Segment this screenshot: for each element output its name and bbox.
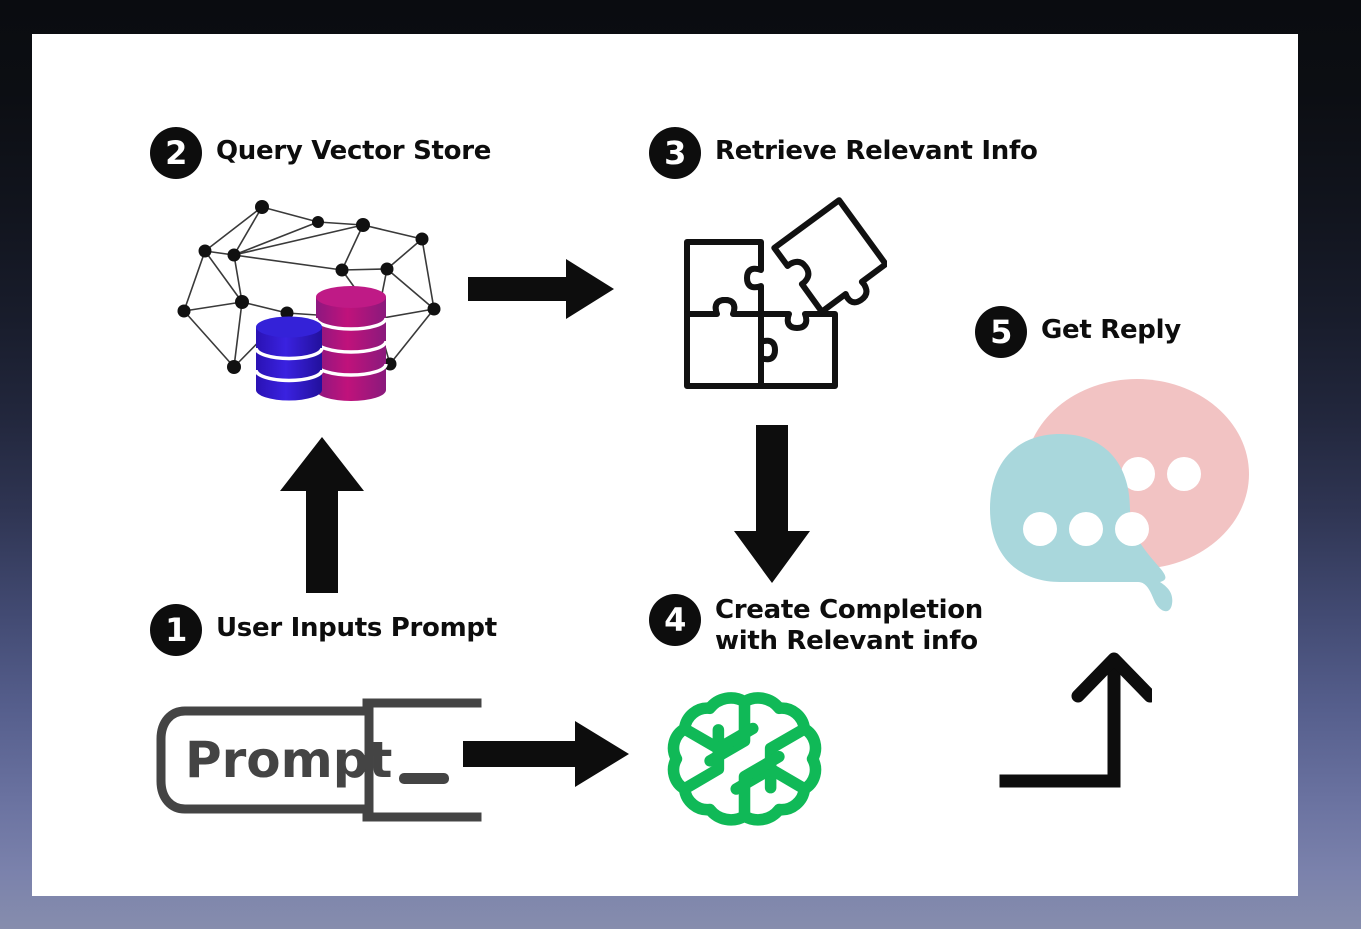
- chat-bubbles-icon: [972, 364, 1252, 639]
- step-2-badge: 2: [150, 127, 202, 179]
- step-1-badge: 1: [150, 604, 202, 656]
- step-2-label: Query Vector Store: [216, 127, 491, 167]
- step-5-get-reply: 5 Get Reply: [975, 306, 1181, 358]
- database-cylinder-blue: [256, 317, 322, 401]
- database-cylinder-magenta: [316, 286, 386, 401]
- prompt-text: Prompt: [185, 731, 392, 789]
- step-3-retrieve-relevant-info: 3 Retrieve Relevant Info: [649, 127, 1038, 179]
- prompt-input-icon[interactable]: Prompt: [147, 689, 487, 834]
- vector-store-icon: [172, 189, 472, 424]
- step-3-badge: 3: [649, 127, 701, 179]
- diagram-card: 2 Query Vector Store: [32, 34, 1298, 896]
- arrow-step1-to-step4: [457, 709, 637, 804]
- step-5-label: Get Reply: [1041, 306, 1181, 346]
- step-3-label: Retrieve Relevant Info: [715, 127, 1038, 167]
- openai-logo-icon: [662, 679, 827, 849]
- step-1-label: User Inputs Prompt: [216, 604, 497, 644]
- arrow-step2-to-step3: [462, 249, 622, 334]
- step-4-create-completion: 4 Create Completion with Relevant info: [649, 594, 983, 656]
- prompt-cursor-icon: [399, 773, 449, 784]
- diagram-canvas: 2 Query Vector Store: [0, 0, 1361, 929]
- step-4-label: Create Completion with Relevant info: [715, 594, 983, 656]
- arrow-step1-to-step2: [272, 429, 372, 604]
- puzzle-pieces-icon: [647, 184, 887, 414]
- arrow-step4-to-step5: [962, 639, 1152, 804]
- step-5-badge: 5: [975, 306, 1027, 358]
- step-1-user-inputs-prompt: 1 User Inputs Prompt: [150, 604, 497, 656]
- step-4-badge: 4: [649, 594, 701, 646]
- step-2-query-vector-store: 2 Query Vector Store: [150, 127, 491, 179]
- arrow-step3-to-step4: [722, 419, 822, 594]
